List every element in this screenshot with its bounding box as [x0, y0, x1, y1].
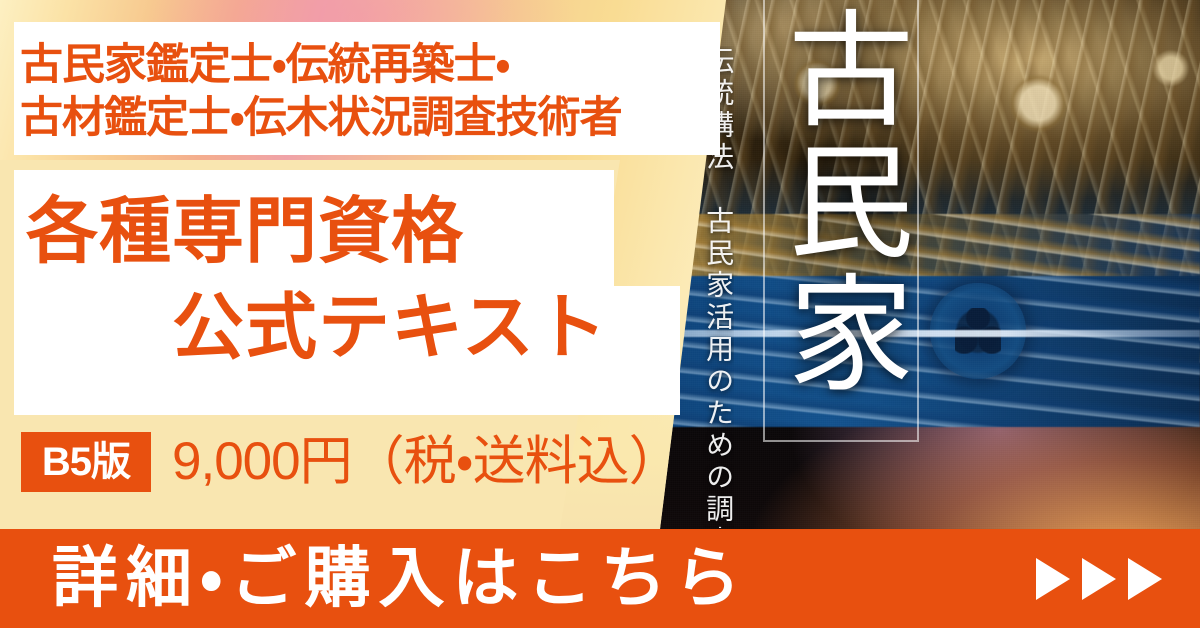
triangle-right-icon	[1128, 558, 1162, 600]
qualifications-line-1: 古民家鑑定士・伝統再築士・	[20, 44, 509, 87]
triangle-right-icon	[1036, 558, 1070, 600]
cta-bar[interactable]: 詳細・ご購入はこちら	[0, 529, 1200, 628]
triangle-right-icon	[1082, 558, 1116, 600]
cover-title: 古民家	[778, 4, 904, 400]
headline-line-2: 公式テキスト	[172, 292, 608, 364]
price-text: 9,000円（税・送料込）	[172, 435, 681, 488]
cta-label: 詳細・ご購入はこちら	[52, 544, 748, 610]
promo-banner: 伝統構法 古民家活用のための調査と再生の 古民家 古民家鑑定士・伝統再築士・ 古…	[0, 0, 1200, 628]
format-badge: B5版	[21, 432, 151, 492]
qualifications-line-2: 古材鑑定士・伝木状況調査技術者	[20, 97, 622, 140]
format-badge-label: B5版	[42, 442, 130, 482]
headline-line-1: 各種専門資格	[26, 196, 464, 268]
cta-arrow-group	[1036, 558, 1162, 600]
